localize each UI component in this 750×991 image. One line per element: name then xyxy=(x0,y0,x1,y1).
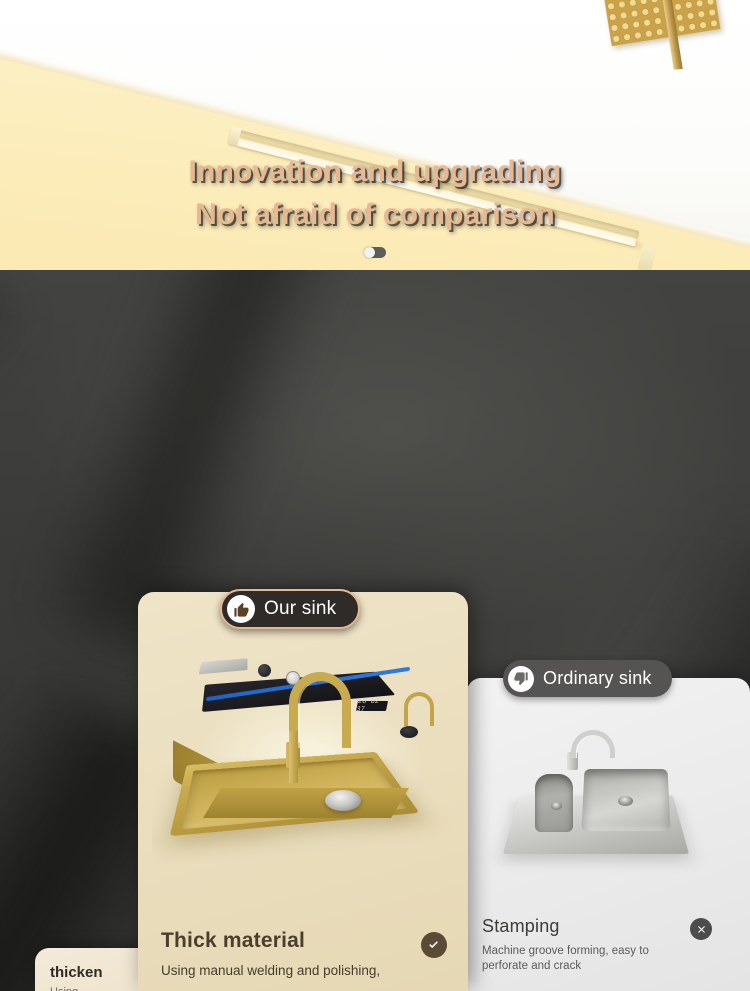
partial-feature-card[interactable]: thicken Using xyxy=(35,948,155,991)
stainless-steel-sink-image xyxy=(497,722,697,872)
steel-drain-small xyxy=(551,802,562,810)
partial-card-title: thicken xyxy=(50,964,103,981)
gold-sink-drain xyxy=(325,790,361,811)
x-circle-icon xyxy=(690,918,712,940)
sink-lcd-display: 28 02 37 xyxy=(356,701,388,711)
carousel-dot-active[interactable] xyxy=(364,247,375,258)
thumbs-down-icon xyxy=(508,666,534,692)
gold-faucet-icon xyxy=(289,672,351,748)
ordinary-sink-badge-label: Ordinary sink xyxy=(543,668,652,689)
ordinary-sink-feature-block: Stamping Machine groove forming, easy to… xyxy=(482,916,677,973)
ordinary-sink-feature-desc: Machine groove forming, easy to perforat… xyxy=(482,944,677,973)
steel-drain-large xyxy=(618,796,633,806)
sink-side-knob-icon xyxy=(400,726,418,738)
headline-block: Innovation and upgrading Not afraid of c… xyxy=(0,150,750,236)
headline-line-1: Innovation and upgrading xyxy=(0,150,750,193)
gold-sink-image: 28 02 37 xyxy=(152,638,457,864)
headline-line-2: Not afraid of comparison xyxy=(0,193,750,236)
check-circle-icon xyxy=(421,932,447,958)
sink-side-sprayer-icon xyxy=(404,692,434,726)
our-sink-badge-label: Our sink xyxy=(264,598,336,620)
partial-card-subtitle: Using xyxy=(50,986,78,991)
our-sink-feature-block: Thick material Using manual welding and … xyxy=(161,929,451,980)
control-knob-dark-icon xyxy=(258,664,271,677)
our-sink-feature-title: Thick material xyxy=(161,929,451,953)
sink-wall-front xyxy=(203,788,409,818)
our-sink-feature-desc: Using manual welding and polishing, xyxy=(161,962,451,980)
our-sink-badge[interactable]: Our sink xyxy=(220,589,360,629)
ordinary-sink-feature-title: Stamping xyxy=(482,916,677,937)
steel-faucet-icon xyxy=(571,730,615,758)
ordinary-sink-badge[interactable]: Ordinary sink xyxy=(503,660,672,697)
sink-control-metal-plate xyxy=(199,658,248,674)
carousel-dots[interactable] xyxy=(364,247,386,258)
thumbs-up-icon xyxy=(227,595,255,623)
